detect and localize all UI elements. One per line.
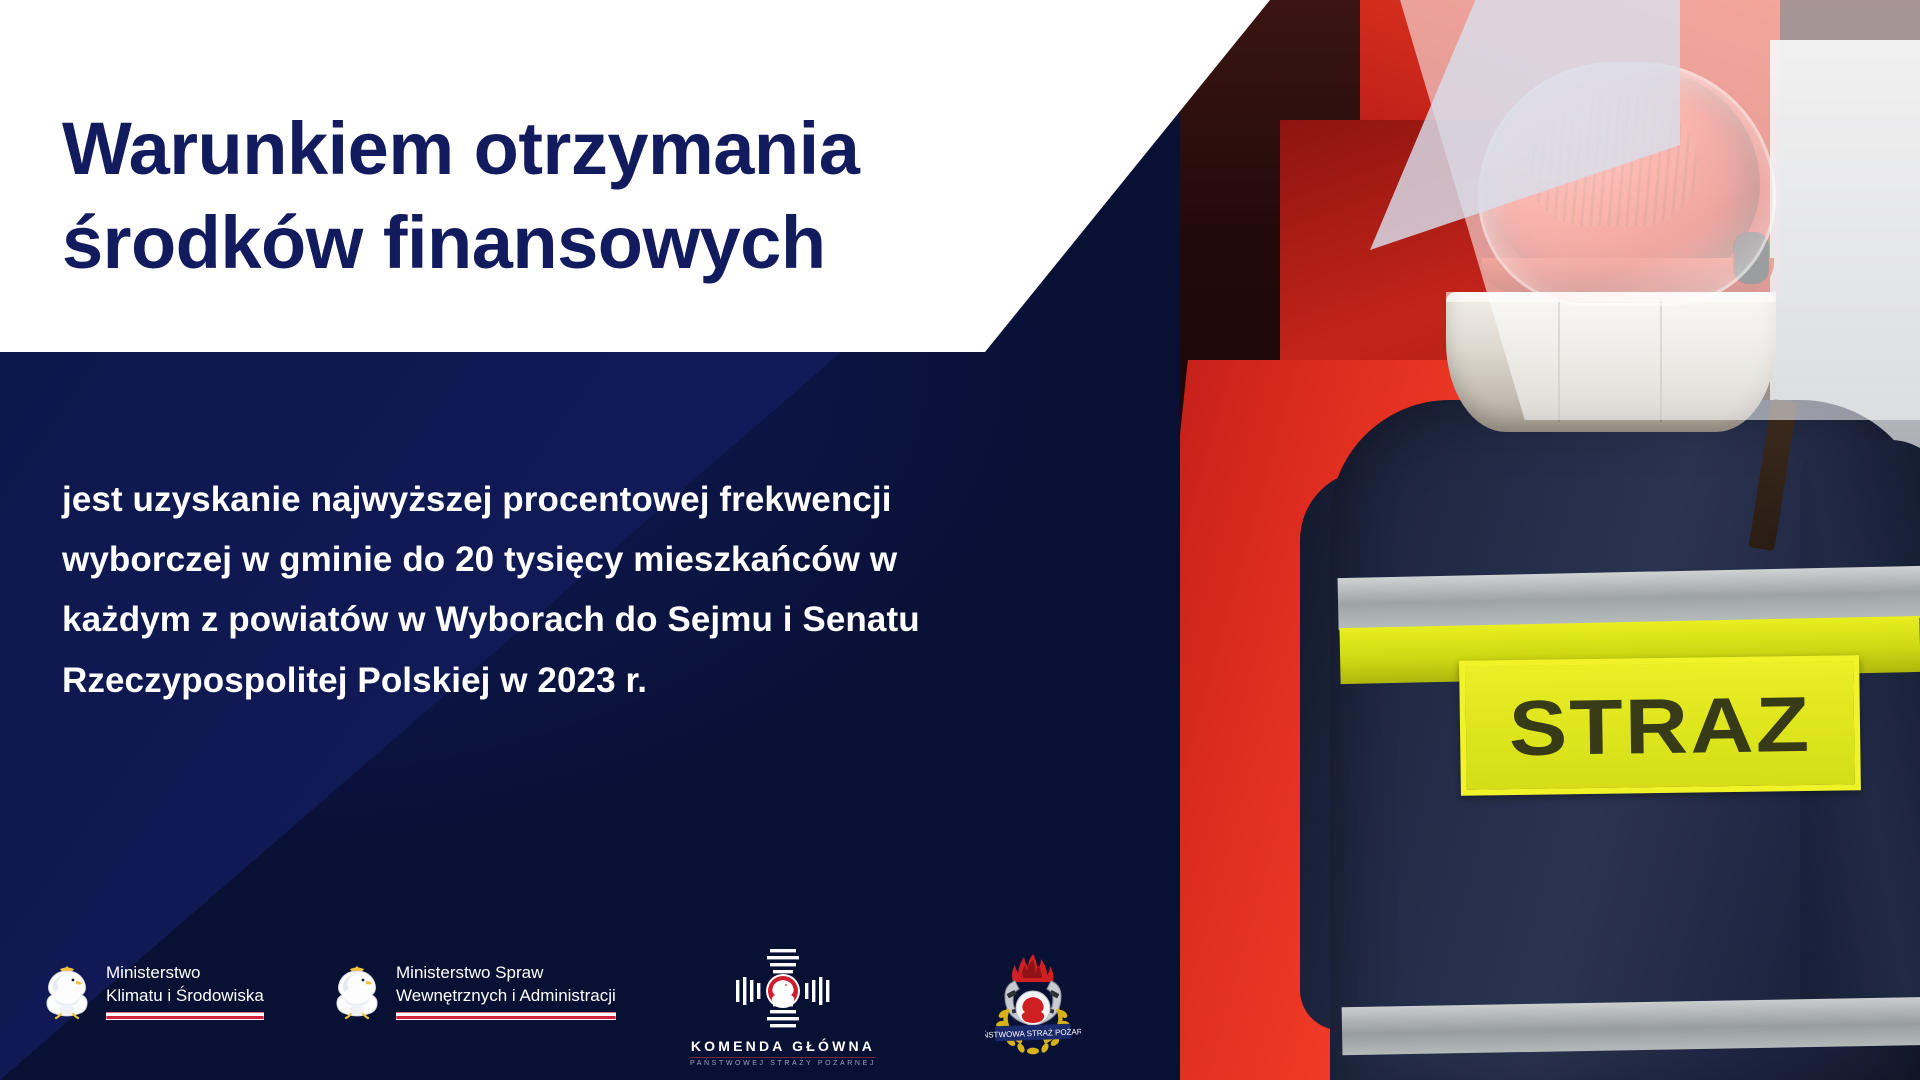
ministerstwo-klimatu-line-2: Klimatu i Środowiska [106, 985, 264, 1007]
body-copy: jest uzyskanie najwyższej procentowej fr… [62, 470, 1082, 711]
polish-eagle-icon [40, 962, 94, 1020]
komenda-glowna-subtitle: PAŃSTWOWEJ STRAŻY POŻARNEJ [690, 1057, 876, 1067]
polish-flag-bar [106, 1012, 264, 1020]
straz-back-patch: STRAZ [1459, 655, 1861, 796]
helmet-visor [1478, 62, 1776, 306]
ministerstwo-spraw-line-2: Wewnętrznych i Administracji [396, 985, 616, 1007]
logo-bar: Ministerstwo Klimatu i Środowiska Minist… [0, 930, 1130, 1080]
logo-komenda-glowna: KOMENDA GŁÓWNA PAŃSTWOWEJ STRAŻY POŻARNE… [690, 948, 876, 1067]
poster-canvas: STRAZ Warunkiem otrzymania środków finan… [0, 0, 1920, 1080]
reflective-stripe-grey-bottom [1342, 997, 1920, 1055]
straz-patch-label: STRAZ [1508, 684, 1811, 766]
body-line-3: każdym z powiatów w Wyborach do Sejmu i … [62, 590, 1082, 650]
body-line-1: jest uzyskanie najwyższej procentowej fr… [62, 470, 1082, 530]
headline-line-1: Warunkiem otrzymania [62, 102, 1122, 197]
polish-flag-bar [396, 1012, 616, 1020]
ministerstwo-klimatu-line-1: Ministerstwo [106, 962, 264, 984]
body-line-4: Rzeczypospolitej Polskiej w 2023 r. [62, 651, 1082, 711]
page-title: Warunkiem otrzymania środków finansowych [62, 102, 1122, 291]
logo-ministerstwo-spraw-wewnetrznych: Ministerstwo Spraw Wewnętrznych i Admini… [330, 962, 616, 1020]
polish-eagle-icon [330, 962, 384, 1020]
komenda-glowna-title: KOMENDA GŁÓWNA [691, 1038, 875, 1054]
helmet-neck-protector [1446, 292, 1776, 432]
headline-line-2: środków finansowych [62, 196, 1122, 291]
ministerstwo-klimatu-text: Ministerstwo Klimatu i Środowiska [106, 962, 264, 1020]
body-line-2: wyborczej w gminie do 20 tysięcy mieszka… [62, 530, 1082, 590]
firefighter-photo: STRAZ [1160, 0, 1920, 1080]
ministerstwo-spraw-line-1: Ministerstwo Spraw [396, 962, 616, 984]
ministerstwo-spraw-text: Ministerstwo Spraw Wewnętrznych i Admini… [396, 962, 616, 1020]
psp-cross-eagle-icon [735, 948, 831, 1034]
psp-crest-icon: PAŃSTWOWA STRAŻ POŻARNA [985, 952, 1081, 1056]
logo-ministerstwo-klimatu: Ministerstwo Klimatu i Środowiska [40, 962, 264, 1020]
logo-panstwowa-straz-pozarna: PAŃSTWOWA STRAŻ POŻARNA [985, 952, 1081, 1056]
